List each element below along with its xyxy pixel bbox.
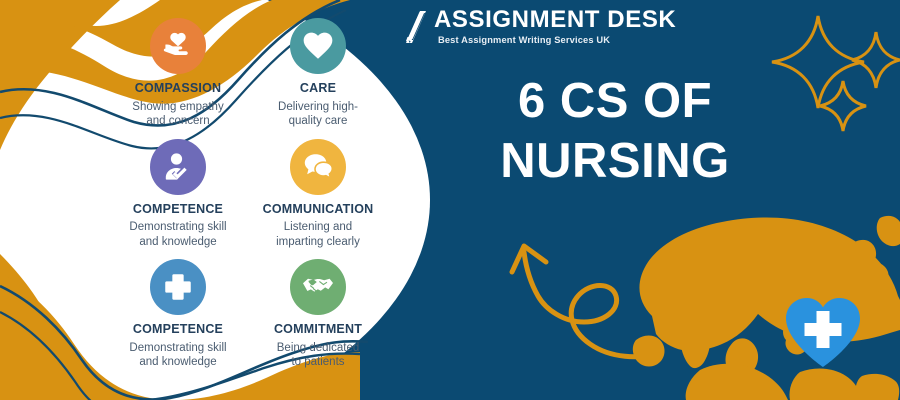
heart-medical-cross-icon — [782, 295, 864, 369]
speech-bubbles-icon — [290, 139, 346, 195]
card-title: COMPASSION — [112, 82, 244, 96]
medical-cross-icon — [150, 259, 206, 315]
arrow-curve — [524, 252, 660, 357]
card-title: COMMUNICATION — [252, 203, 384, 217]
six-cs-card-grid: COMPASSION Showing empathy and concern C… — [108, 18, 388, 380]
page-title: 6 CS OF NURSING — [430, 72, 800, 192]
pencil-a-icon — [404, 10, 434, 44]
card-desc-line-1: Listening and — [284, 221, 352, 233]
card-desc-line-2: imparting clearly — [276, 236, 360, 248]
card-communication: COMMUNICATION Listening and imparting cl… — [248, 139, 388, 250]
headline-line-2: NURSING — [430, 132, 800, 192]
handshake-icon — [290, 259, 346, 315]
card-desc-line-2: quality care — [289, 115, 348, 127]
brand-logo[interactable]: ASSIGNMENT DESK Best Assignment Writing … — [404, 8, 676, 45]
card-compassion: COMPASSION Showing empathy and concern — [108, 18, 248, 129]
card-desc-line-1: Delivering high- — [278, 101, 358, 113]
card-competence-top: COMPETENCE Demonstrating skill and knowl… — [108, 139, 248, 250]
card-care: CARE Delivering high- quality care — [248, 18, 388, 129]
card-desc-line-1: Showing empathy — [132, 101, 223, 113]
card-desc-line-1: Demonstrating skill — [129, 342, 226, 354]
card-description: Showing empathy and concern — [112, 100, 244, 129]
card-description: Delivering high- quality care — [252, 100, 384, 129]
card-title: CARE — [252, 82, 384, 96]
card-title: COMPETENCE — [112, 323, 244, 337]
card-commitment: COMMITMENT Being dedicated to patients — [248, 259, 388, 370]
card-desc-line-2: and knowledge — [139, 356, 216, 368]
card-description: Demonstrating skill and knowledge — [112, 341, 244, 370]
card-desc-line-2: and knowledge — [139, 236, 216, 248]
card-description: Demonstrating skill and knowledge — [112, 220, 244, 249]
card-desc-line-1: Demonstrating skill — [129, 221, 226, 233]
card-title: COMMITMENT — [252, 323, 384, 337]
heart-icon — [290, 18, 346, 74]
headline-line-1: 6 CS OF — [430, 72, 800, 132]
card-title: COMPETENCE — [112, 203, 244, 217]
card-description: Being dedicated to patients — [252, 341, 384, 370]
card-desc-line-1: Being dedicated — [277, 342, 359, 354]
card-desc-line-2: to patients — [291, 356, 344, 368]
logo-title: ASSIGNMENT DESK — [434, 8, 676, 32]
heart-in-hand-icon — [150, 18, 206, 74]
card-description: Listening and imparting clearly — [252, 220, 384, 249]
card-competence-bottom: COMPETENCE Demonstrating skill and knowl… — [108, 259, 248, 370]
infographic-banner: COMPASSION Showing empathy and concern C… — [0, 0, 900, 400]
card-desc-line-2: and concern — [146, 115, 209, 127]
person-check-icon — [150, 139, 206, 195]
logo-tagline: Best Assignment Writing Services UK — [438, 35, 676, 45]
